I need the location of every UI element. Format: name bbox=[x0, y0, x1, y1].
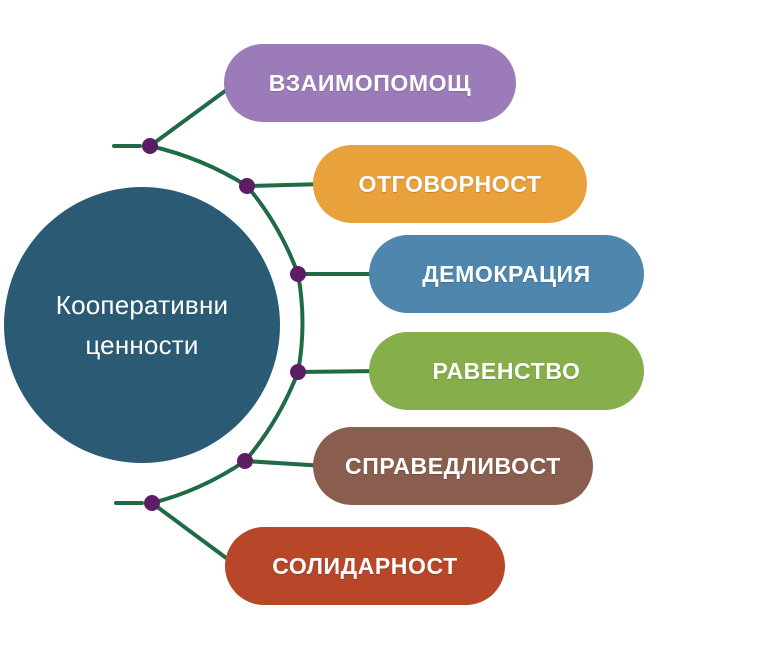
branch-pill-label: СОЛИДАРНОСТ bbox=[272, 553, 458, 580]
hub-circle[interactable]: Кооперативни ценности bbox=[4, 187, 280, 463]
branch-stub-1 bbox=[150, 83, 236, 146]
junction-node-4[interactable] bbox=[290, 364, 306, 380]
junction-node-3[interactable] bbox=[290, 266, 306, 282]
branch-pill-2[interactable]: ОТГОВОРНОСТ bbox=[313, 145, 587, 223]
branch-pill-label: ВЗАИМОПОМОЩ bbox=[269, 70, 471, 97]
diagram-canvas: Кооперативни ценности ВЗАИМОПОМОЩОТГОВОР… bbox=[0, 0, 768, 647]
junction-node-6[interactable] bbox=[144, 495, 160, 511]
branch-pill-label: ДЕМОКРАЦИЯ bbox=[422, 261, 591, 288]
branch-pill-1[interactable]: ВЗАИМОПОМОЩ bbox=[224, 44, 516, 122]
branch-pill-5[interactable]: СПРАВЕДЛИВОСТ bbox=[313, 427, 593, 505]
branch-pill-3[interactable]: ДЕМОКРАЦИЯ bbox=[369, 235, 644, 313]
hub-label: Кооперативни ценности bbox=[27, 285, 257, 366]
hub-label-line2: ценности bbox=[27, 325, 257, 365]
junction-node-2[interactable] bbox=[239, 178, 255, 194]
hub-label-line1: Кооперативни bbox=[27, 285, 257, 325]
branch-pill-4[interactable]: РАВЕНСТВО bbox=[369, 332, 644, 410]
branch-stub-6 bbox=[152, 503, 237, 566]
branch-pill-6[interactable]: СОЛИДАРНОСТ bbox=[225, 527, 505, 605]
branch-pill-label: РАВЕНСТВО bbox=[433, 358, 581, 385]
junction-node-5[interactable] bbox=[237, 453, 253, 469]
junction-node-1[interactable] bbox=[142, 138, 158, 154]
branch-pill-label: ОТГОВОРНОСТ bbox=[358, 171, 541, 198]
branch-pill-label: СПРАВЕДЛИВОСТ bbox=[345, 453, 561, 480]
